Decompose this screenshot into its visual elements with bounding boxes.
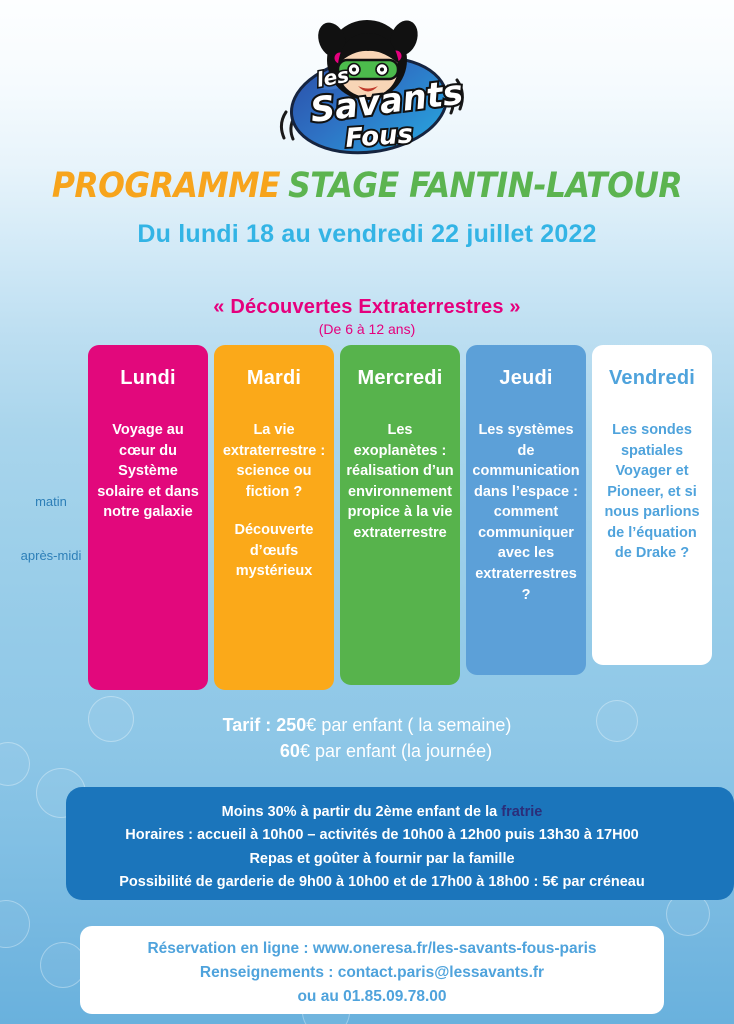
pricing-line-week: Tarif : 250€ par enfant ( la semaine) [0,712,734,738]
day-header-jeudi: Jeudi [472,367,580,390]
age-range: (De 6 à 12 ans) [0,321,734,337]
activity-vendredi-morning: Les sondes spatiales Voyager et Pioneer,… [598,420,706,564]
contact-booking-url[interactable]: Réservation en ligne : www.oneresa.fr/le… [80,937,664,961]
savants-fous-logo-icon: les Savants Fous [252,16,482,162]
pricing-week-currency: € [306,715,316,735]
period-label-afternoon: après-midi [8,548,94,563]
day-header-mercredi: Mercredi [346,367,454,390]
info-box: Moins 30% à partir du 2ème enfant de la … [66,787,734,900]
poster-root: les Savants Fous PROGRAMMESTAGE FANTIN-L… [0,0,734,1024]
info-line-hours: Horaires : accueil à 10h00 – activités d… [66,824,734,847]
page-title: PROGRAMMESTAGE FANTIN-LATOUR [0,166,734,206]
pricing-day-currency: € [300,741,310,761]
page-title-stage: STAGE FANTIN-LATOUR [288,166,682,206]
day-header-lundi: Lundi [94,367,202,390]
activity-mardi-morning: La vie extraterrestre : science ou ficti… [220,420,328,502]
activity-jeudi-morning: Les systèmes de communication dans l’esp… [472,420,580,605]
decorative-bubble [0,900,30,948]
activity-mardi-afternoon: Découverte d’œufs mystérieux [220,520,328,582]
contact-box: Réservation en ligne : www.oneresa.fr/le… [80,926,664,1014]
period-label-morning: matin [8,494,94,509]
logo: les Savants Fous [0,14,734,164]
schedule-column-vendredi[interactable]: Vendredi Les sondes spatiales Voyager et… [592,345,712,665]
page-title-programme: PROGRAMME [52,166,280,206]
pricing-week-amount: 250 [276,715,306,735]
activity-mercredi-morning: Les exoplanètes : réalisation d’un envir… [346,420,454,543]
info-discount-text: Moins 30% à partir du 2ème enfant de la [222,804,502,820]
pricing-block: Tarif : 250€ par enfant ( la semaine) 60… [0,712,734,764]
schedule-column-lundi[interactable]: Lundi Voyage au cœur du Système solaire … [88,345,208,690]
pricing-day-amount: 60 [280,741,300,761]
pricing-label: Tarif : [223,715,277,735]
contact-email[interactable]: Renseignements : contact.paris@lessavant… [80,961,664,985]
day-header-mardi: Mardi [220,367,328,390]
pricing-line-day: 60€ par enfant (la journée) [0,738,734,764]
contact-phone[interactable]: ou au 01.85.09.78.00 [80,985,664,1009]
schedule-grid: Lundi Voyage au cœur du Système solaire … [88,345,700,695]
svg-text:Fous: Fous [344,119,414,154]
info-line-daycare: Possibilité de garderie de 9h00 à 10h00 … [66,871,734,894]
schedule-column-jeudi[interactable]: Jeudi Les systèmes de communication dans… [466,345,586,675]
theme-title: « Découvertes Extraterrestres » [0,296,734,319]
pricing-day-desc: par enfant (la journée) [310,741,492,761]
schedule-column-mercredi[interactable]: Mercredi Les exoplanètes : réalisation d… [340,345,460,685]
info-line-discount: Moins 30% à partir du 2ème enfant de la … [66,801,734,824]
schedule-column-mardi[interactable]: Mardi La vie extraterrestre : science ou… [214,345,334,690]
info-discount-accent: fratrie [501,804,542,820]
pricing-week-desc: par enfant ( la semaine) [316,715,511,735]
info-line-meals: Repas et goûter à fournir par la famille [66,848,734,871]
activity-lundi-morning: Voyage au cœur du Système solaire et dan… [94,420,202,523]
day-header-vendredi: Vendredi [598,367,706,390]
date-range: Du lundi 18 au vendredi 22 juillet 2022 [0,220,734,249]
